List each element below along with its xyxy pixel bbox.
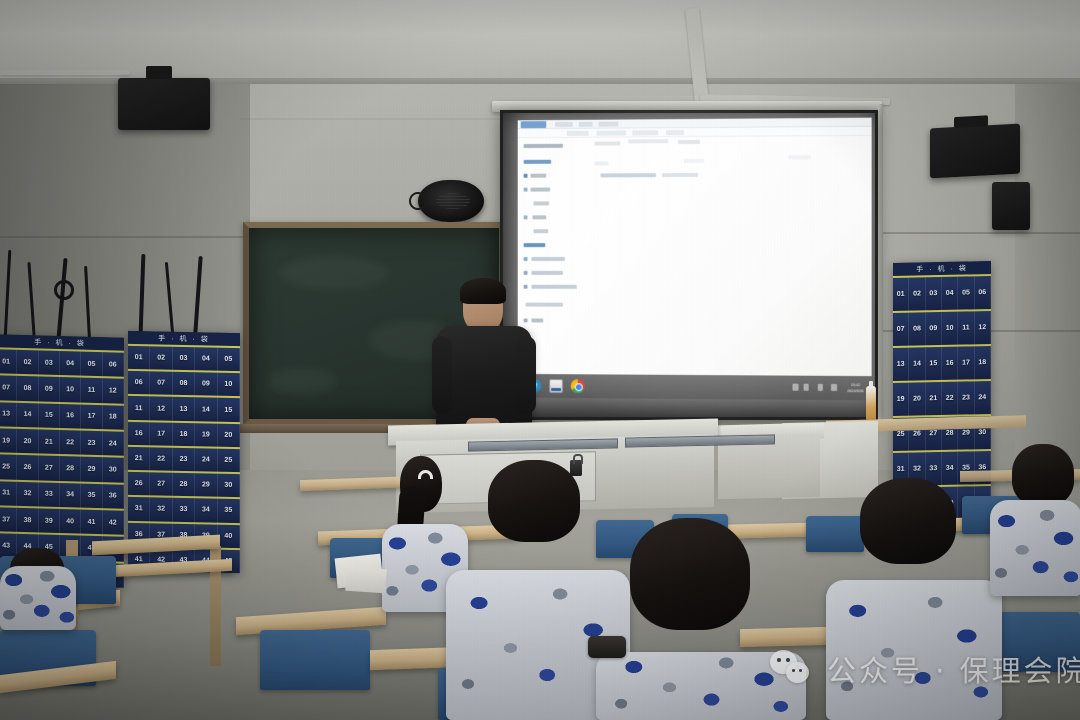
pocket-row: 070809101112 [0,374,124,404]
pocket-cell: 07 [893,313,909,346]
pocket-cell: 07 [0,376,17,401]
pocket-cell: 23 [958,381,974,414]
pocket-cell: 11 [958,311,974,344]
pocket-row: 0607080910 [128,369,240,396]
pocket-cell: 15 [39,403,60,428]
pocket-cell: 22 [60,430,81,455]
pocket-cell: 42 [103,510,124,535]
pocket-cell: 40 [218,524,240,548]
pocket-cell: 04 [60,351,81,376]
pocket-cell: 31 [0,481,17,506]
chair [806,516,864,552]
ceiling-speaker-left-icon [118,78,210,130]
pocket-cell: 10 [60,377,81,402]
student-head [860,478,956,564]
pocket-cell: 13 [0,402,17,427]
hair-clip [418,470,433,479]
paper-sheet [345,567,387,594]
pocket-cell: 02 [150,346,172,370]
pocket-cell: 36 [103,484,124,509]
pocket-cell: 29 [195,473,217,497]
pocket-row: 0102030405 [128,344,240,371]
pocket-cell: 21 [926,382,942,415]
pocket-cell: 14 [195,398,217,422]
pocket-row: 192021222324 [0,426,124,456]
pocket-cell: 15 [218,398,240,422]
file-explorer-icon[interactable] [549,379,563,393]
pocket-cell: 28 [173,473,195,497]
app-sidebar[interactable] [524,144,585,358]
pocket-cell: 34 [60,483,81,508]
pocket-cell: 37 [0,507,17,532]
pocket-cell: 25 [0,455,17,480]
wall-speaker-right-upper-icon [930,124,1020,179]
pocket-row: 313233343536 [0,479,124,509]
pocket-cell: 10 [218,373,240,397]
pocket-cell: 05 [81,352,102,377]
pocket-row: 3132333435 [128,495,240,522]
instructor-arm-right [516,336,536,414]
instructor-arm-left [432,336,452,414]
pocket-cell: 29 [81,457,102,482]
tray-icon[interactable] [792,384,798,391]
pocket-cell: 01 [0,349,17,374]
pocket-cell: 12 [103,379,124,404]
pocket-cell: 13 [173,397,195,421]
pocket-cell: 18 [975,346,991,379]
wall-seam [880,232,1080,234]
pocket-cell: 05 [218,348,240,372]
pocket-cell: 14 [909,347,925,380]
water-bottle [866,386,876,420]
pocket-cell: 30 [103,458,124,483]
pocket-cell: 22 [150,447,172,471]
pocket-cell: 18 [173,422,195,446]
pocket-cell: 06 [103,352,124,377]
pocket-cell: 03 [173,347,195,371]
pocket-cell: 28 [60,456,81,481]
pocket-cell: 22 [942,382,958,415]
pocket-cell: 27 [150,472,172,496]
student-head [630,518,750,630]
hanging-wire-loop [54,280,74,300]
pocket-cell: 24 [975,381,991,414]
pocket-cell: 25 [218,449,240,473]
pocket-cell: 09 [195,372,217,396]
pocket-row: 2627282930 [128,470,240,497]
pocket-cell: 31 [128,497,150,521]
pocket-cell: 02 [909,277,925,310]
pocket-cell: 30 [218,474,240,498]
app-toolbar[interactable] [518,127,872,138]
pocket-cell: 35 [81,483,102,508]
windows-taskbar[interactable]: e 15:42 2024/9/26 [518,374,872,400]
pocket-cell: 08 [173,372,195,396]
pocket-cell: 20 [909,382,925,415]
pocket-row: 373839404142 [0,505,124,535]
pocket-cell: 19 [0,428,17,453]
pocket-cell: 19 [893,383,909,416]
pocket-cell: 12 [150,397,172,421]
pocket-cell: 03 [39,350,60,375]
taskbar-clock[interactable]: 15:42 2024/9/26 [843,380,867,396]
student-torso [0,566,76,630]
chair [260,630,370,690]
projection-screen[interactable]: e 15:42 2024/9/26 [500,110,878,420]
pocket-cell: 32 [17,481,38,506]
tray-icon[interactable] [831,384,837,391]
pocket-cell: 08 [909,312,925,345]
pocket-row: 1112131415 [128,394,240,421]
pocket-cell: 15 [926,347,942,380]
pocket-cell: 06 [975,276,991,309]
pocket-cell: 02 [17,350,38,375]
pocket-cell: 26 [128,472,150,496]
pocket-cell: 21 [39,429,60,454]
pocket-row: 2122232425 [128,445,240,472]
ribbon-active-tab[interactable] [521,121,547,128]
pocket-cell: 05 [958,276,974,309]
pocket-cell: 40 [60,509,81,534]
classroom-photo: e 15:42 2024/9/26 手 · 机 · 袋 010203040506… [0,0,1080,720]
pocket-cell: 24 [195,448,217,472]
pocket-cell: 38 [17,508,38,533]
pocket-cell: 17 [150,422,172,446]
chrome-browser-icon[interactable] [571,379,585,393]
ceiling-conduit [0,70,130,75]
cabinet-padlock-icon [570,460,582,476]
pocket-cell: 07 [150,372,172,396]
pocket-row: 070809101112 [893,309,991,346]
pocket-cell: 16 [60,404,81,429]
pocket-cell: 32 [150,498,172,522]
student-torso [826,580,1002,720]
pocket-cell: 20 [218,423,240,447]
wall-seam [0,236,250,238]
pocket-cell: 35 [218,499,240,523]
pocket-cell: 39 [39,508,60,533]
pocket-row: 010203040506 [893,274,991,311]
screen-support-pole [878,104,883,424]
pocket-cell: 13 [893,348,909,381]
pocket-row: 252627282930 [0,453,124,483]
pocket-cell: 27 [39,456,60,481]
pocket-cell: 16 [128,422,150,446]
pocket-cell: 09 [926,312,942,345]
student-head [1012,444,1074,506]
pocket-row: 131415161718 [0,400,124,430]
speaker-grille [436,193,470,209]
pocket-cell: 11 [128,396,150,420]
instructor-hair [460,278,506,304]
pocket-cell: 08 [17,376,38,401]
pocket-cell: 24 [103,431,124,456]
pocket-cell: 10 [942,312,958,345]
tray-icon[interactable] [818,384,823,391]
pocket-cell: 23 [173,448,195,472]
pocket-cell: 18 [103,405,124,430]
pocket-cell: 20 [17,429,38,454]
pocket-row: 010203040506 [0,347,124,377]
pocket-cell: 26 [17,455,38,480]
pocket-cell: 01 [893,278,909,311]
clock-date: 2024/9/26 [847,388,863,394]
pocket-cell: 23 [81,431,102,456]
pocket-cell: 06 [128,371,150,395]
pocket-row: 192021222324 [893,379,991,416]
pocket-cell: 09 [39,377,60,402]
tray-icon[interactable] [804,384,809,391]
pocket-cell: 17 [81,404,102,429]
pocket-row: 1617181920 [128,420,240,447]
wristwatch [588,636,626,658]
pocket-cell: 34 [942,452,958,485]
student-torso [596,652,806,720]
pocket-cell: 16 [942,347,958,380]
pocket-cell: 04 [195,347,217,371]
pocket-cell: 33 [39,482,60,507]
pocket-row: 131415161718 [893,344,991,381]
pocket-cell: 11 [81,378,102,403]
pocket-cell: 14 [17,402,38,427]
pocket-cell: 12 [975,311,991,344]
wall-speaker-right-lower-icon [992,182,1030,230]
pocket-cell: 34 [195,499,217,523]
pocket-cell: 19 [195,423,217,447]
pocket-cell: 17 [958,346,974,379]
pocket-cell: 01 [128,346,150,370]
pocket-cell: 33 [173,498,195,522]
pocket-cell: 03 [926,277,942,310]
pocket-cell: 41 [81,510,102,535]
oval-speaker-center-icon [418,180,484,222]
pocket-cell: 04 [942,277,958,310]
student-head [488,460,580,542]
student-torso [990,500,1080,596]
projected-desktop[interactable]: e 15:42 2024/9/26 [518,118,872,401]
pocket-cell: 21 [128,447,150,471]
wall-seam [240,118,500,120]
